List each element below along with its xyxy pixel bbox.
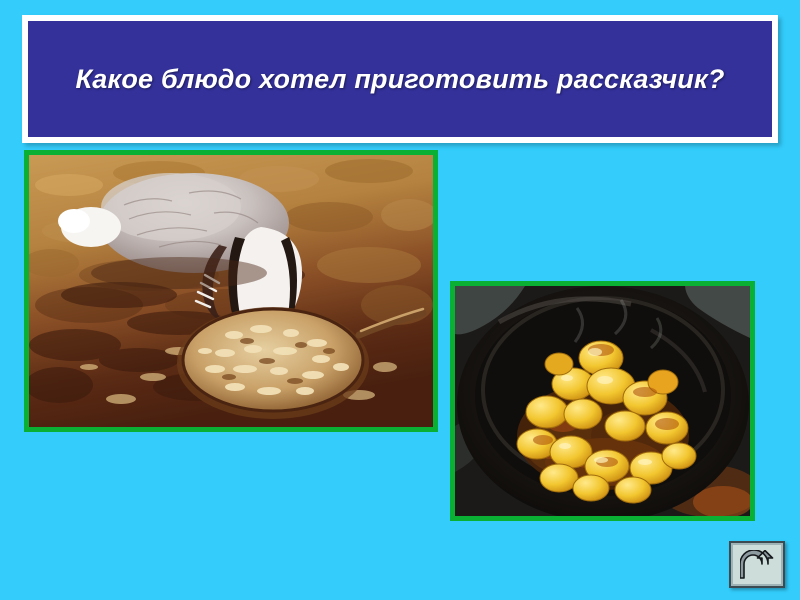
page-title: Какое блюдо хотел приготовить рассказчик… <box>65 60 735 98</box>
nav-back-button[interactable] <box>729 541 785 588</box>
badger-illustration <box>29 155 433 427</box>
u-turn-arrow-icon <box>740 550 774 580</box>
title-panel: Какое блюдо хотел приготовить рассказчик… <box>28 21 772 137</box>
potatoes-photo <box>455 286 750 516</box>
title-banner: Какое блюдо хотел приготовить рассказчик… <box>22 15 778 143</box>
image-fried-potatoes-in-cauldron <box>450 281 755 521</box>
image-badger-eating-from-bowl <box>24 150 438 432</box>
slide-canvas: Какое блюдо хотел приготовить рассказчик… <box>0 0 800 600</box>
